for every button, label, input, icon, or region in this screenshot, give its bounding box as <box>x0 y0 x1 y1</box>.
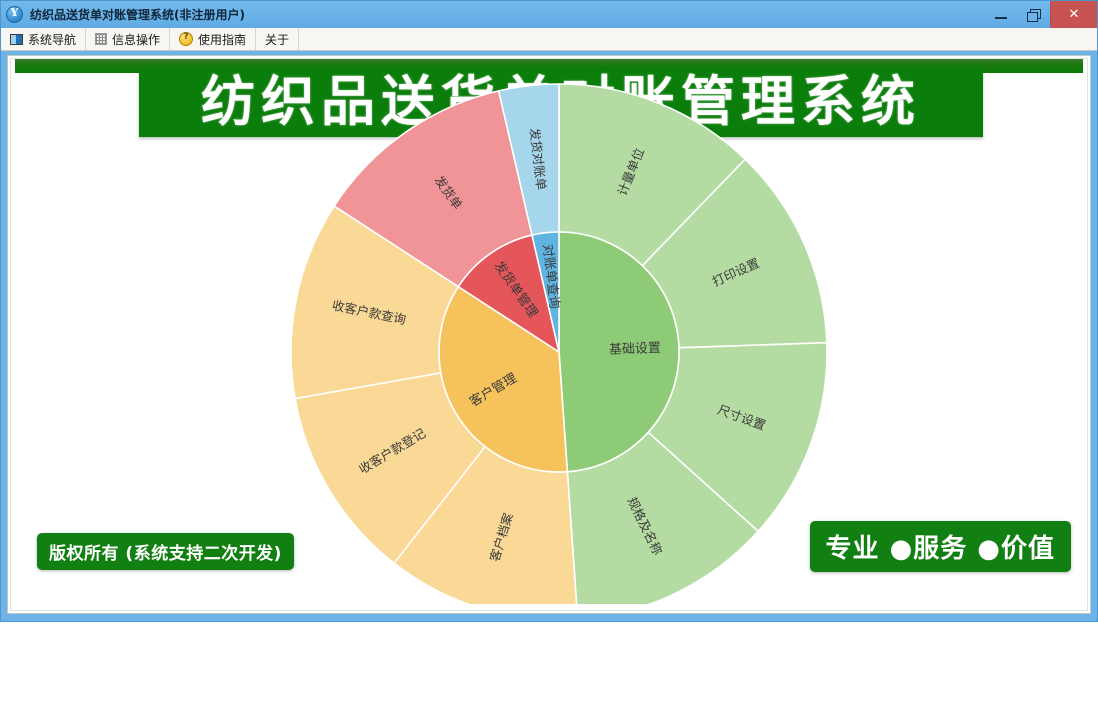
close-button[interactable]: ✕ <box>1050 1 1097 28</box>
window-title: 纺织品送货单对账管理系统(非注册用户) <box>30 6 245 23</box>
grid-icon <box>95 33 107 45</box>
menu-item-about[interactable]: 关于 <box>256 28 299 50</box>
segment-label: 基础设置 <box>609 341 662 358</box>
app-logo-icon <box>6 6 23 23</box>
application-window: 纺织品送货单对账管理系统(非注册用户) ✕ 系统导航 信息操作 使用指南 关于 <box>0 0 1098 622</box>
slogan-text: 专业 ●服务 ●价值 <box>826 528 1055 565</box>
menu-item-info-operations[interactable]: 信息操作 <box>86 28 170 50</box>
menu-item-label: 关于 <box>265 31 289 48</box>
restore-icon <box>1027 9 1040 21</box>
help-circle-icon <box>179 32 193 46</box>
restore-button[interactable] <box>1017 1 1050 28</box>
minimize-button[interactable] <box>984 1 1017 28</box>
client-inner: 纺织品送货单对账管理系统 计量单位打印设置尺寸设置规格及名称客户档案收客户款登记… <box>10 58 1088 611</box>
client-area: 纺织品送货单对账管理系统 计量单位打印设置尺寸设置规格及名称客户档案收客户款登记… <box>7 55 1091 614</box>
copyright-badge: 版权所有 (系统支持二次开发) <box>37 533 294 570</box>
slogan-badge: 专业 ●服务 ●价值 <box>810 521 1071 572</box>
title-bar: 纺织品送货单对账管理系统(非注册用户) ✕ <box>1 1 1097 28</box>
window-controls: ✕ <box>984 1 1097 28</box>
copyright-text: 版权所有 (系统支持二次开发) <box>49 539 282 564</box>
menu-item-label: 系统导航 <box>28 31 76 48</box>
navigation-icon <box>10 34 23 45</box>
menu-item-label: 使用指南 <box>198 31 246 48</box>
menu-bar-filler <box>299 28 1097 50</box>
menu-item-label: 信息操作 <box>112 31 160 48</box>
minimize-icon <box>995 17 1007 19</box>
menu-item-user-guide[interactable]: 使用指南 <box>170 28 256 50</box>
menu-bar: 系统导航 信息操作 使用指南 关于 <box>1 28 1097 51</box>
menu-item-system-navigation[interactable]: 系统导航 <box>1 28 86 50</box>
